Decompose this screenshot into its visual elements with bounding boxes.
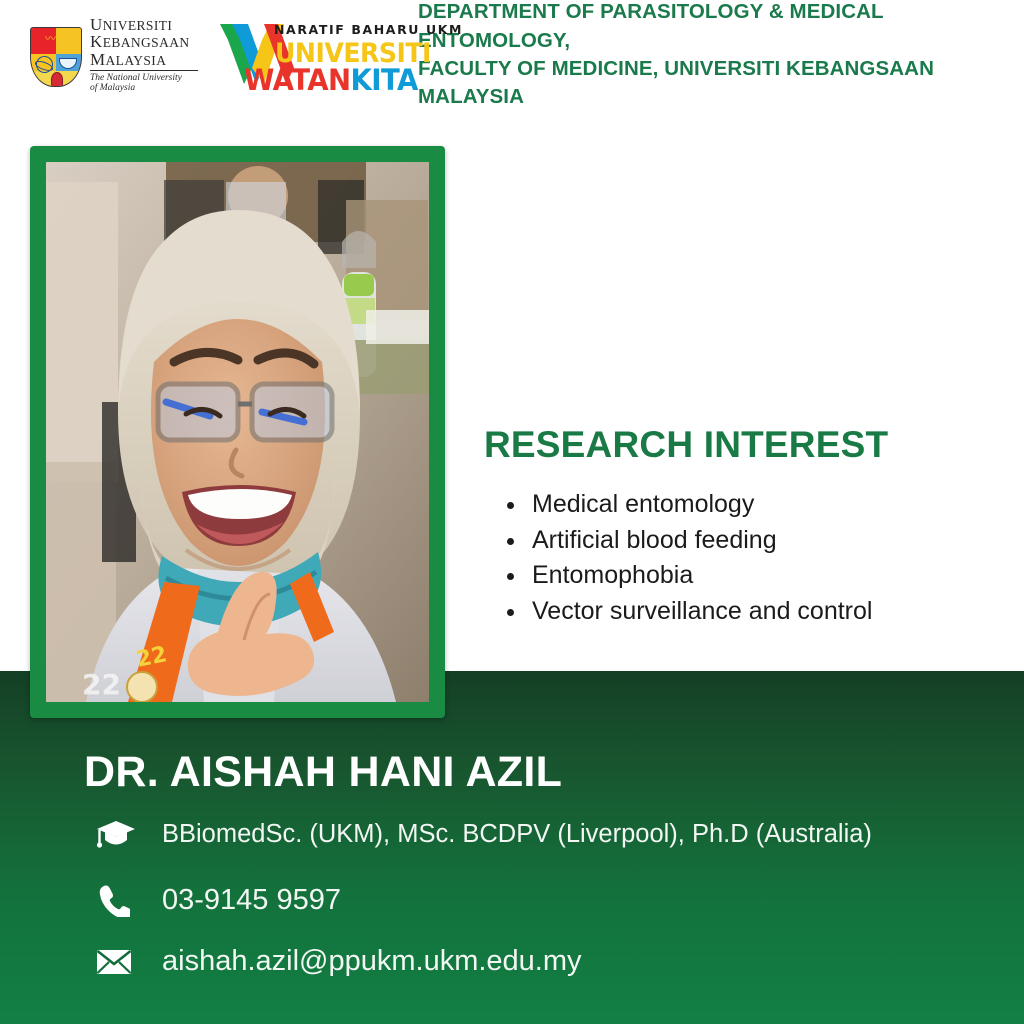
ukm-crest-icon: 〰〰 bbox=[26, 19, 84, 91]
phone-text: 03-9145 9597 bbox=[162, 884, 341, 917]
crest-line-3: MALAYSIA bbox=[90, 51, 198, 68]
crest-divider bbox=[90, 70, 198, 71]
crest-tagline-2: of Malaysia bbox=[90, 83, 198, 93]
svg-text:22: 22 bbox=[82, 668, 121, 701]
photo-frame: 22 22 bbox=[30, 146, 445, 718]
crest-line-2: KEBANGSAAN bbox=[90, 33, 198, 50]
degrees-text: BBiomedSc. (UKM), MSc. BCDPV (Liverpool)… bbox=[162, 820, 872, 849]
list-item: Artificial blood feeding bbox=[528, 523, 872, 559]
narrative-w-icon: NARATIF BAHARU UKM UNIVERSITI WATANKITA bbox=[218, 16, 396, 94]
department-title-line-2: FACULTY OF MEDICINE, UNIVERSITI KEBANGSA… bbox=[418, 55, 1024, 112]
graduation-cap-icon bbox=[96, 818, 142, 850]
narrative-watan: WATAN bbox=[244, 63, 351, 97]
crest-tagline-1: The National University bbox=[90, 73, 198, 83]
profile-name: DR. AISHAH HANI AZIL bbox=[84, 748, 562, 797]
portrait-photo: 22 22 bbox=[46, 162, 429, 702]
research-interest-title: RESEARCH INTEREST bbox=[484, 424, 888, 466]
header-bar: 〰〰 UNIVERSITI KEBANGSAAN MALAYSIA The Na… bbox=[0, 0, 1024, 110]
narrative-kita: KITA bbox=[351, 63, 418, 97]
shield-shape: 〰〰 bbox=[30, 27, 82, 87]
poster-canvas: 〰〰 UNIVERSITI KEBANGSAAN MALAYSIA The Na… bbox=[0, 0, 1024, 1024]
email-row[interactable]: aishah.azil@ppukm.ukm.edu.my bbox=[96, 945, 582, 978]
phone-icon bbox=[96, 883, 142, 917]
list-item: Vector surveillance and control bbox=[528, 594, 872, 630]
list-item: Entomophobia bbox=[528, 558, 872, 594]
research-interest-list: Medical entomology Artificial blood feed… bbox=[496, 487, 872, 629]
degrees-row: BBiomedSc. (UKM), MSc. BCDPV (Liverpool)… bbox=[96, 818, 872, 850]
narrative-watan-kita: WATANKITA bbox=[244, 63, 418, 97]
crest-line-1: UNIVERSITI bbox=[90, 16, 198, 33]
ukm-crest-wordmark: UNIVERSITI KEBANGSAAN MALAYSIA The Natio… bbox=[90, 16, 198, 94]
phone-row[interactable]: 03-9145 9597 bbox=[96, 883, 341, 917]
department-title: DEPARTMENT OF PARASITOLOGY & MEDICAL ENT… bbox=[418, 0, 1024, 112]
department-title-line-1: DEPARTMENT OF PARASITOLOGY & MEDICAL ENT… bbox=[418, 0, 1024, 55]
narrative-kicker: NARATIF BAHARU UKM bbox=[274, 22, 463, 37]
list-item: Medical entomology bbox=[528, 487, 872, 523]
envelope-icon bbox=[96, 948, 142, 976]
email-text: aishah.azil@ppukm.ukm.edu.my bbox=[162, 945, 582, 978]
